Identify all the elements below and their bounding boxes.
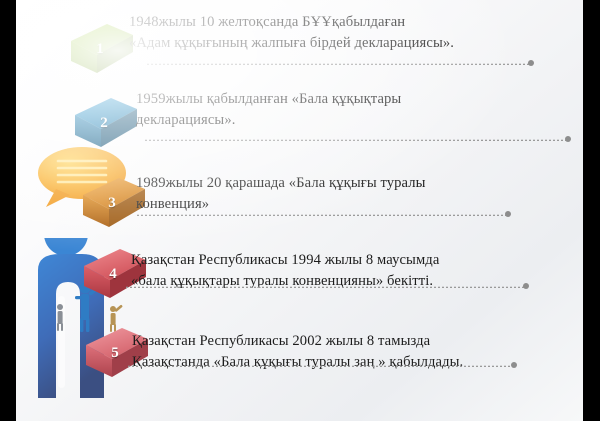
timeline-text-3: 1989жылы 20 қарашада «Бала құқығы туралы… xyxy=(136,173,426,215)
letterbox-right xyxy=(583,0,600,421)
timeline-text-4-line2: «бала құқықтары туралы конвенцияны» бекі… xyxy=(131,271,439,292)
leader-line-5 xyxy=(127,364,514,367)
step-number-2: 2 xyxy=(67,95,141,151)
timeline-text-1-line1: 1948жылы 10 желтоқсанда БҰҰқабылдаған xyxy=(129,14,405,30)
timeline-text-2-line2: декларациясы». xyxy=(136,110,401,131)
slide-root: 1 1948жылы 10 желтоқсанда БҰҰқабылдаған … xyxy=(0,0,600,421)
slide-canvas: 1 1948жылы 10 желтоқсанда БҰҰқабылдаған … xyxy=(16,0,583,421)
leader-dot-2 xyxy=(565,136,571,142)
step-number-1: 1 xyxy=(63,21,137,77)
leader-line-3 xyxy=(136,213,508,216)
timeline-text-4-line1: Қазақстан Республикасы 1994 жылы 8 маусы… xyxy=(131,252,439,268)
timeline-text-1: 1948жылы 10 желтоқсанда БҰҰқабылдаған «А… xyxy=(129,12,454,54)
step-cube-2: 2 xyxy=(67,95,141,151)
leader-dot-1 xyxy=(528,60,534,66)
timeline-text-5-line1: Қазақстан Республикасы 2002 жылы 8 тамыз… xyxy=(132,333,430,349)
leader-dot-4 xyxy=(523,283,529,289)
timeline-text-1-line2: «Адам құқығының жалпыға бірдей деклараци… xyxy=(129,33,454,54)
leader-line-2 xyxy=(144,138,568,141)
letterbox-left xyxy=(0,0,16,421)
step-cube-1: 1 xyxy=(63,21,137,77)
leader-dot-3 xyxy=(505,211,511,217)
timeline-text-3-line2: конвенция» xyxy=(136,194,426,215)
timeline-text-5-line2: Қазақстанда «Бала құқығы туралы заң » қа… xyxy=(132,352,463,373)
leader-line-4 xyxy=(125,285,526,288)
leader-line-1 xyxy=(146,62,531,65)
timeline-text-3-line1: 1989жылы 20 қарашада «Бала құқығы туралы xyxy=(136,175,426,191)
timeline-text-2: 1959жылы қабылданған «Бала құқықтары дек… xyxy=(136,89,401,131)
leader-dot-5 xyxy=(511,362,517,368)
timeline-text-2-line1: 1959жылы қабылданған «Бала құқықтары xyxy=(136,91,401,107)
